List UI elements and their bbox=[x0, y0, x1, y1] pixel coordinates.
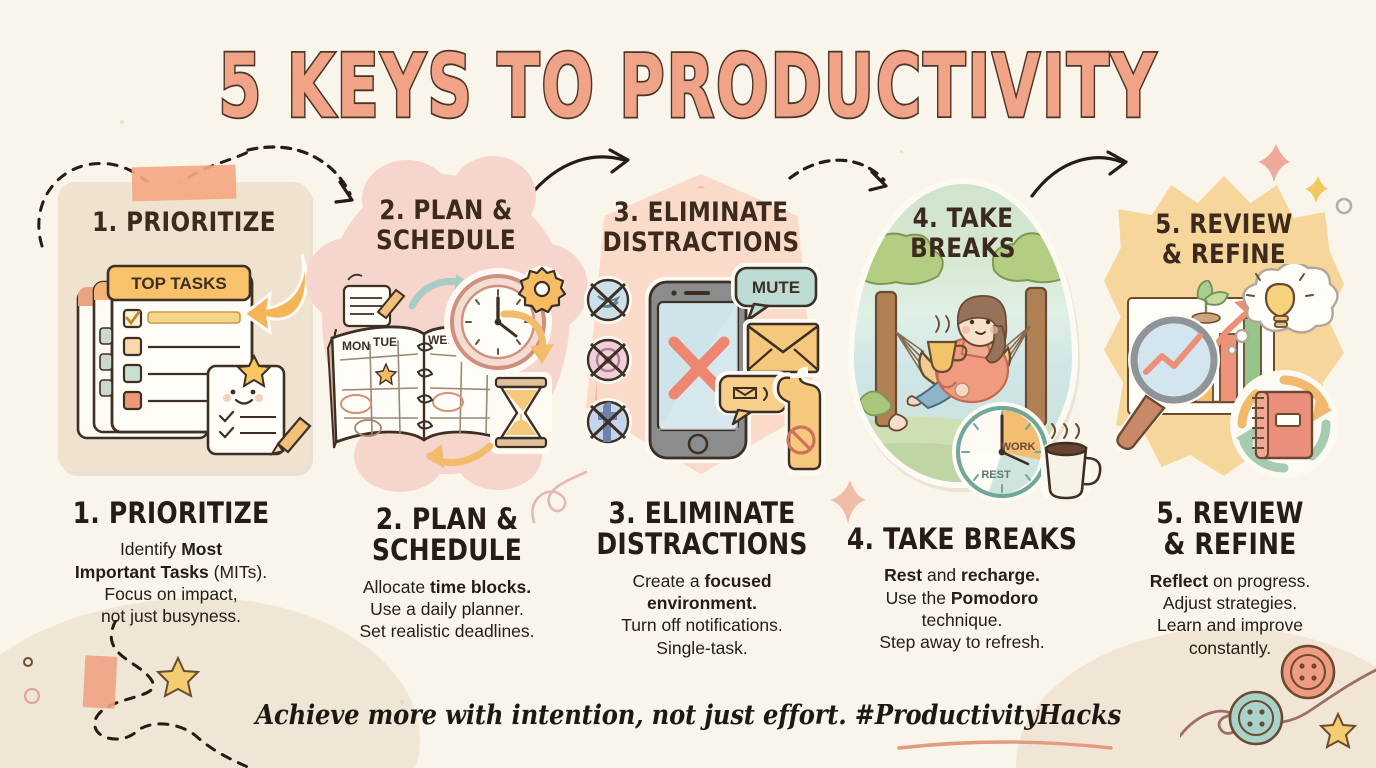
summary-body-1: Identify MostImportant Tasks (MITs).Focu… bbox=[36, 538, 306, 628]
card-2-title: 2. PLAN & SCHEDULE bbox=[328, 196, 564, 256]
planner-day-tue: TUE bbox=[373, 335, 397, 349]
summary-body-line: environment. bbox=[582, 592, 822, 614]
summary-body-line: Use the Pomodoro bbox=[830, 587, 1094, 609]
lightbulb-thought-icon bbox=[1226, 264, 1348, 374]
star-icon bbox=[158, 658, 198, 696]
card-eliminate-distractions[interactable]: 3. ELIMINATE DISTRACTIONS bbox=[586, 174, 816, 474]
cards-row: 1. PRIORITIZE TOP TASKS bbox=[0, 168, 1376, 498]
summary-body-line: Identify Most bbox=[36, 538, 306, 560]
ring-icon bbox=[1337, 199, 1351, 213]
sparkle-icon bbox=[1258, 144, 1290, 182]
page-title: 5 KEYS TO PRODUCTIVITY bbox=[218, 36, 1157, 137]
summary-body-line: Turn off notifications. bbox=[582, 614, 822, 636]
sparkle-icon bbox=[830, 480, 866, 524]
decoration-bottom-left bbox=[0, 620, 360, 768]
tape-strip-icon bbox=[132, 165, 237, 202]
summary-body-3: Create a focusedenvironment.Turn off not… bbox=[582, 570, 822, 660]
summary-body-4: Rest and recharge.Use the Pomodorotechni… bbox=[830, 564, 1094, 654]
notepad-star-icon bbox=[200, 352, 320, 464]
summary-body-line: Focus on impact, bbox=[36, 583, 306, 605]
card-plan-schedule[interactable]: 2. PLAN & SCHEDULE bbox=[322, 174, 570, 474]
card-take-breaks[interactable]: 4. TAKE BREAKS WORK bbox=[848, 178, 1078, 488]
decoration-sparkles-top-right bbox=[1250, 130, 1376, 250]
card-prioritize[interactable]: 1. PRIORITIZE TOP TASKS bbox=[58, 182, 310, 472]
decoration-sparkle-mid bbox=[824, 470, 904, 540]
summary-body-line: Allocate time blocks. bbox=[320, 576, 574, 598]
summary-column-4: 4. TAKE BREAKS Rest and recharge.Use the… bbox=[830, 524, 1094, 654]
coral-button-icon bbox=[1282, 646, 1334, 698]
infographic-poster: 5 KEYS TO PRODUCTIVITY bbox=[0, 0, 1376, 768]
mute-label: MUTE bbox=[752, 278, 800, 297]
card-1-title: 1. PRIORITIZE bbox=[64, 208, 303, 238]
card-3-title: 3. ELIMINATE DISTRACTIONS bbox=[592, 198, 811, 258]
poster-title-container: 5 KEYS TO PRODUCTIVITY bbox=[0, 44, 1376, 130]
summary-body-line: Rest and recharge. bbox=[830, 564, 1094, 586]
summary-body-line: Use a daily planner. bbox=[320, 598, 574, 620]
mint-button-icon bbox=[1230, 692, 1282, 744]
top-tasks-label: TOP TASKS bbox=[131, 274, 226, 293]
timer-rest-label: REST bbox=[981, 469, 1011, 481]
card-4-title: 4. TAKE BREAKS bbox=[854, 204, 1073, 264]
summary-body-line: Single-task. bbox=[582, 637, 822, 659]
crossed-social-icon bbox=[572, 274, 648, 464]
star-icon bbox=[1321, 714, 1355, 747]
summary-body-line: Reflect on progress. bbox=[1104, 570, 1356, 592]
summary-body-line: technique. bbox=[830, 609, 1094, 631]
summary-column-1: 1. PRIORITIZE Identify MostImportant Tas… bbox=[36, 498, 306, 628]
summary-body-line: Important Tasks (MITs). bbox=[36, 561, 306, 583]
summary-heading-5: 5. REVIEW & REFINE bbox=[1109, 498, 1351, 561]
summary-heading-1: 1. PRIORITIZE bbox=[41, 498, 300, 529]
timer-work-label: WORK bbox=[1001, 441, 1036, 453]
tagline-underline bbox=[895, 738, 1115, 752]
footer-tagline: Achieve more with intention, not just ef… bbox=[255, 699, 1121, 731]
summary-body-line: Step away to refresh. bbox=[830, 631, 1094, 653]
down-arrow-icon bbox=[498, 306, 568, 386]
decoration-bottom-right bbox=[1180, 630, 1376, 768]
door-hanger-icon bbox=[764, 366, 834, 476]
summary-body-line: Adjust strategies. bbox=[1104, 592, 1356, 614]
left-arrow-icon bbox=[420, 432, 500, 480]
summary-body-line: Create a focused bbox=[582, 570, 822, 592]
orange-arrow-icon bbox=[216, 240, 316, 340]
notebook-cycle-icon bbox=[1222, 364, 1350, 490]
planner-day-mon: MON bbox=[342, 339, 370, 353]
decoration-squiggle-mid bbox=[524, 452, 644, 542]
tape-strip-icon bbox=[83, 655, 118, 709]
sparkle-icon bbox=[1305, 176, 1328, 203]
